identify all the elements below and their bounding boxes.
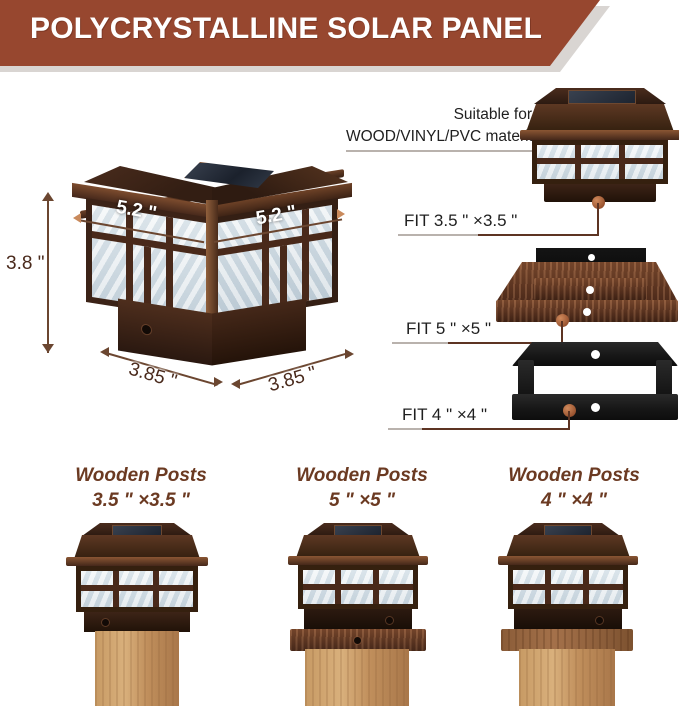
post-example-5 [272, 523, 442, 706]
screw-hole [386, 617, 393, 624]
fit4-rule [388, 428, 422, 430]
eave [520, 130, 679, 140]
glass-panel [532, 140, 668, 184]
suitable-line-1: Suitable for [346, 104, 532, 126]
glass-panel [508, 565, 628, 609]
corner-post [206, 200, 218, 330]
screw-hole [586, 286, 594, 294]
fit35-rule [398, 234, 478, 236]
bottom-label-post-35: Wooden Posts 3.5 " ×3.5 " [36, 463, 246, 513]
glass-panel [76, 566, 198, 612]
mullion [513, 584, 623, 590]
roof-slope [296, 535, 420, 558]
dim-arrow-roof-left [73, 213, 81, 223]
dimension-height-label: 3.8 " [6, 253, 44, 275]
wooden-post [305, 649, 409, 706]
adapter-plate-4 [501, 629, 633, 651]
fit-callout-35: FIT 3.5 " ×3.5 " [404, 211, 517, 231]
dim-arrow-base-left-end [214, 377, 223, 387]
leader-line-fit4-v [568, 411, 570, 429]
fit-callout-5: FIT 5 " ×5 " [406, 319, 491, 339]
adapter-plate-edge [496, 300, 678, 322]
bottom-title-4: Wooden Posts [474, 463, 674, 488]
mullion [81, 585, 193, 591]
glass-panel [298, 565, 418, 609]
solar-panel [334, 525, 382, 536]
roof-slope [74, 535, 200, 559]
leader-line-fit35-h [470, 234, 599, 236]
page-title: POLYCRYSTALLINE SOLAR PANEL [30, 12, 542, 46]
wooden-post [519, 649, 615, 706]
product-adapter-4 [512, 342, 678, 424]
bottom-size-5: 5 " ×5 " [262, 488, 462, 513]
screw-hole [354, 637, 361, 644]
suitable-note-rule [346, 150, 546, 152]
bottom-size-4: 4 " ×4 " [474, 488, 674, 513]
adapter-inner-wall [534, 278, 646, 300]
screw-hole [583, 308, 591, 316]
dim-line-height [47, 198, 49, 353]
screw-hole [142, 324, 151, 334]
infographic-page: POLYCRYSTALLINE SOLAR PANEL [0, 0, 679, 706]
screw-hole [596, 617, 603, 624]
product-adapter-5 [496, 248, 678, 334]
solar-panel [544, 525, 592, 536]
suitable-line-2: WOOD/VINYL/PVC materials [346, 126, 532, 148]
post-example-4 [482, 523, 652, 706]
wooden-post [95, 631, 179, 706]
dim-arrow-up [42, 192, 54, 201]
mullion [144, 246, 151, 306]
dim-arrow-base-right-end [345, 349, 354, 359]
screw-hole [591, 350, 600, 359]
mullion [218, 231, 332, 256]
screw-hole [591, 403, 600, 412]
product-cap-35 [520, 88, 679, 198]
roof-slope [526, 104, 674, 132]
cap-base [514, 609, 622, 631]
cap-base [304, 609, 412, 631]
leader-line-fit4-h [408, 428, 570, 430]
frame-back-rail [512, 342, 678, 366]
fit5-rule [392, 342, 448, 344]
eave [288, 556, 428, 565]
screw-hole [102, 619, 109, 626]
header-banner: POLYCRYSTALLINE SOLAR PANEL [0, 0, 679, 78]
bottom-title-35: Wooden Posts [36, 463, 246, 488]
cap-base [84, 612, 190, 632]
mullion [537, 158, 663, 164]
leader-line-fit35-v [597, 203, 599, 235]
solar-panel [112, 525, 162, 536]
eave [66, 557, 208, 566]
dim-arrow-roof-right [337, 209, 345, 219]
dim-arrow-base-left-start [100, 347, 109, 357]
leader-line-fit5-v [561, 321, 563, 343]
dim-arrow-base-right-start [231, 379, 240, 389]
post-example-35 [52, 523, 222, 706]
bottom-label-post-5: Wooden Posts 5 " ×5 " [262, 463, 462, 513]
bottom-size-35: 3.5 " ×3.5 " [36, 488, 246, 513]
solar-panel [568, 90, 636, 104]
eave [498, 556, 638, 565]
suitable-materials-note: Suitable for WOOD/VINYL/PVC materials [346, 104, 532, 148]
frame-front-rail [512, 394, 678, 420]
mullion [303, 584, 413, 590]
bottom-title-5: Wooden Posts [262, 463, 462, 488]
fit-callout-4: FIT 4 " ×4 " [402, 405, 487, 425]
mullion [280, 245, 287, 305]
bottom-label-post-4: Wooden Posts 4 " ×4 " [474, 463, 674, 513]
mullion [126, 210, 133, 303]
screw-hole [588, 254, 595, 261]
mullion [302, 209, 309, 302]
dim-arrow-down [42, 344, 54, 353]
roof-slope [506, 535, 630, 558]
mullion [166, 217, 173, 310]
adapter-plate-5 [290, 629, 426, 651]
